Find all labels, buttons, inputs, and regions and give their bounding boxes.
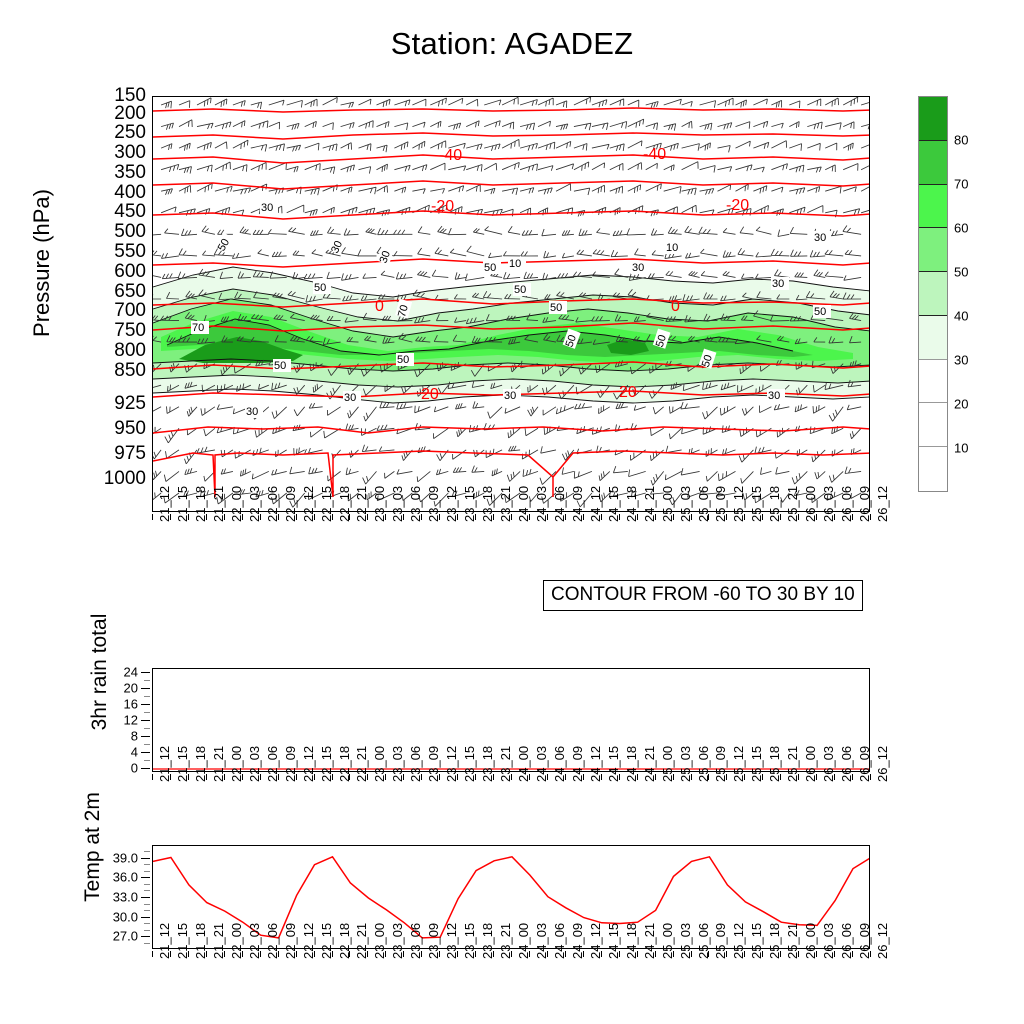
temp-y-tick-mark <box>141 936 150 937</box>
x-tick-mark <box>349 774 350 780</box>
wind-barb <box>825 165 835 172</box>
wind-barb <box>503 251 520 256</box>
wind-barb <box>646 102 659 109</box>
temp-y-tick-mark <box>141 917 150 918</box>
wind-barb <box>522 230 538 235</box>
x-tick-mark <box>457 774 458 780</box>
wind-barb <box>789 165 804 172</box>
wind-barb <box>703 426 717 434</box>
wind-barb <box>843 226 861 235</box>
wind-barb <box>341 207 358 215</box>
wind-barb <box>720 406 735 415</box>
x-tick-mark <box>529 951 530 957</box>
wind-barb <box>789 188 805 195</box>
x-tick-mark <box>367 514 368 520</box>
wind-barb <box>502 122 514 129</box>
wind-barb <box>197 165 212 172</box>
wind-barb <box>179 101 190 108</box>
wind-barb <box>417 271 430 278</box>
colorbar-tick-label: 40 <box>954 309 968 324</box>
wind-barb <box>305 99 317 107</box>
wind-barb <box>847 405 861 410</box>
wind-barb <box>502 139 519 148</box>
contour-canvas: -40 -40 -20 -20 0 0 20 20 30 10 10 50 30… <box>153 97 870 512</box>
wind-barb <box>629 470 646 477</box>
x-tick-mark <box>170 514 171 520</box>
colorbar[interactable]: 1020304050607080 <box>918 96 998 492</box>
svg-text:30: 30 <box>344 392 356 404</box>
wind-barb <box>635 249 646 256</box>
wind-barb <box>825 272 843 278</box>
x-tick-mark <box>367 774 368 780</box>
wind-barb <box>628 163 642 170</box>
x-tick-mark <box>152 774 153 780</box>
temp-y-minor-tick <box>144 864 150 865</box>
main-y-tick-label: 300 <box>86 142 146 164</box>
wind-barb <box>538 188 552 195</box>
wind-barb <box>682 162 699 170</box>
wind-barb <box>648 273 663 278</box>
wind-barb <box>845 467 861 474</box>
wind-barb <box>807 99 821 106</box>
wind-barb <box>611 250 628 257</box>
wind-barb <box>556 184 571 192</box>
wind-barb <box>593 250 610 256</box>
wind-barb <box>348 407 359 418</box>
wind-barb <box>574 123 591 130</box>
wind-barb <box>185 450 198 464</box>
wind-barb <box>161 101 171 108</box>
wind-barb <box>574 471 592 478</box>
wind-barb <box>418 227 430 235</box>
wind-barb <box>759 406 771 413</box>
wind-barb <box>233 101 245 107</box>
wind-barb <box>269 144 285 151</box>
wind-barb <box>272 469 287 475</box>
x-tick-mark <box>565 951 566 957</box>
wind-barb <box>309 467 323 474</box>
wind-barb <box>520 164 537 172</box>
wind-barb <box>240 469 250 477</box>
wind-barb <box>359 187 377 194</box>
wind-barb <box>592 185 605 193</box>
wind-barb <box>521 252 538 257</box>
wind-barb <box>362 445 376 452</box>
svg-text:10: 10 <box>509 258 521 270</box>
wind-barb <box>812 450 825 462</box>
x-tick-mark <box>439 774 440 780</box>
wind-barb <box>341 187 353 193</box>
wind-barb <box>430 163 445 170</box>
svg-text:20: 20 <box>421 386 439 403</box>
svg-text:70: 70 <box>192 322 204 334</box>
wind-barb <box>538 142 555 150</box>
wind-barb <box>448 228 466 235</box>
main-y-tick-label: 500 <box>86 221 146 243</box>
main-y-axis-ticks: 1502002503003504004505005506006507007508… <box>84 96 146 512</box>
wind-barb <box>450 249 466 256</box>
wind-barb <box>665 471 681 480</box>
x-tick-mark <box>798 951 799 957</box>
wind-barb <box>465 274 484 281</box>
wind-barb <box>164 471 179 481</box>
x-tick-mark <box>457 514 458 520</box>
rain-y-minor-tick <box>144 712 150 713</box>
x-tick-mark <box>547 951 548 957</box>
x-tick-mark <box>691 951 692 957</box>
x-tick-mark <box>655 951 656 957</box>
wind-barb <box>777 428 789 437</box>
wind-barb <box>363 471 377 484</box>
wind-barb <box>610 163 623 170</box>
wind-barb <box>430 121 441 128</box>
temp-y-tick-mark <box>141 877 150 878</box>
wind-barb <box>310 230 322 235</box>
colorbar-tick-label: 60 <box>954 221 968 236</box>
wind-barb <box>791 250 808 257</box>
wind-barb <box>541 446 556 453</box>
wind-barb <box>843 97 858 106</box>
wind-barb <box>293 251 305 256</box>
wind-barb <box>669 406 681 413</box>
svg-text:30: 30 <box>814 232 826 244</box>
wind-barb <box>613 466 627 473</box>
wind-barb <box>789 144 801 151</box>
x-tick-mark <box>385 774 386 780</box>
wind-barb <box>342 273 359 280</box>
wind-barb <box>436 469 448 475</box>
x-tick-mark <box>260 951 261 957</box>
wind-barb <box>412 99 426 106</box>
wind-barb <box>311 428 323 437</box>
wind-barb <box>556 164 574 170</box>
wind-barb <box>394 165 410 171</box>
wind-barb <box>718 98 734 106</box>
wind-barb <box>484 163 497 170</box>
wind-barb <box>574 144 587 151</box>
wind-barb <box>736 122 750 129</box>
wind-barb <box>628 206 643 215</box>
wind-barb <box>448 186 463 192</box>
x-tick-mark <box>475 951 476 957</box>
wind-barb <box>651 428 664 435</box>
temp-y-tick-mark <box>141 858 150 859</box>
colorbar-bands <box>918 96 948 492</box>
wind-barb <box>359 99 372 105</box>
wind-barb <box>774 404 789 410</box>
wind-barb <box>556 141 571 148</box>
svg-text:50: 50 <box>397 354 409 366</box>
x-tick-mark <box>314 774 315 780</box>
wind-barb <box>504 272 521 279</box>
wind-barb <box>341 102 354 108</box>
x-tick-mark <box>547 514 548 520</box>
x-tick-mark <box>206 774 207 780</box>
svg-text:30: 30 <box>261 202 273 214</box>
wind-barb <box>718 167 732 172</box>
wind-barb <box>466 165 482 172</box>
wind-barb <box>394 207 410 215</box>
wind-barb <box>485 226 503 234</box>
wind-barb <box>610 122 627 129</box>
wind-barb <box>251 163 266 172</box>
wind-barb <box>664 124 676 131</box>
wind-barb <box>287 205 304 213</box>
wind-barb <box>251 102 262 109</box>
svg-text:-20: -20 <box>431 198 454 215</box>
svg-text:30: 30 <box>768 390 780 402</box>
wind-barb <box>385 471 395 478</box>
x-tick-mark <box>870 514 871 520</box>
colorbar-tick-label: 20 <box>954 397 968 412</box>
wind-barb <box>669 428 681 439</box>
x-tick-mark <box>852 514 853 520</box>
wind-barb <box>153 229 161 236</box>
wind-barb <box>843 209 860 215</box>
wind-barb <box>520 123 535 130</box>
wind-barb <box>574 162 589 171</box>
wind-barb <box>807 187 820 193</box>
wind-barb <box>771 141 786 149</box>
wind-barb <box>592 123 608 130</box>
x-tick-label: 26_12 <box>875 486 890 522</box>
wind-barb <box>538 166 553 171</box>
wind-barb <box>153 407 161 414</box>
wind-barb <box>472 466 484 473</box>
x-tick-mark <box>565 774 566 780</box>
wind-barb <box>738 248 754 256</box>
wind-barb <box>492 469 502 476</box>
wind-barb <box>681 468 699 475</box>
wind-barb <box>610 186 623 193</box>
temp-y-minor-tick <box>144 910 150 911</box>
wind-barb <box>165 229 180 235</box>
page-title: Station: AGADEZ <box>0 26 1024 62</box>
x-tick-mark <box>780 774 781 780</box>
x-tick-label: 26_12 <box>875 923 890 959</box>
x-tick-mark <box>493 951 494 957</box>
x-tick-mark <box>762 951 763 957</box>
wind-barb <box>434 407 448 412</box>
wind-barb <box>341 143 352 150</box>
x-tick-mark <box>278 951 279 957</box>
wind-barb <box>668 227 681 234</box>
x-tick-mark <box>206 951 207 957</box>
wind-barb <box>397 402 413 409</box>
wind-barb <box>682 121 692 128</box>
wind-barb <box>341 123 355 129</box>
wind-barb <box>305 188 320 195</box>
wind-barb <box>181 229 197 236</box>
wind-barb <box>575 403 592 409</box>
colorbar-band <box>919 141 947 185</box>
wind-barb <box>723 271 736 277</box>
wind-barb <box>776 467 790 474</box>
wind-barb <box>232 253 250 259</box>
wind-barb <box>453 467 466 472</box>
wind-barb <box>610 99 624 106</box>
wind-barb <box>682 205 697 213</box>
wind-barb <box>233 165 247 172</box>
main-y-tick-label: 650 <box>86 281 146 303</box>
wind-barb <box>771 164 787 171</box>
wind-barb <box>287 123 299 129</box>
wind-barb <box>358 249 377 256</box>
main-y-tick-label: 400 <box>86 182 146 204</box>
wind-barb <box>269 122 280 129</box>
wind-barb <box>850 428 861 439</box>
x-tick-mark <box>726 514 727 520</box>
x-tick-mark <box>152 951 153 957</box>
wind-barb <box>628 100 639 107</box>
wind-barb <box>394 251 412 256</box>
wind-barb <box>473 228 484 234</box>
svg-text:-40: -40 <box>643 146 666 163</box>
wind-barb <box>252 471 268 479</box>
svg-text:30: 30 <box>246 406 258 418</box>
wind-barb <box>294 407 305 416</box>
x-tick-mark <box>403 774 404 780</box>
x-tick-mark <box>242 951 243 957</box>
wind-barb <box>825 186 841 193</box>
wind-barb <box>771 187 783 192</box>
svg-text:30: 30 <box>504 390 516 402</box>
wind-barb <box>825 123 841 130</box>
wind-barb <box>438 226 449 234</box>
wind-barb <box>377 122 390 128</box>
wind-barb <box>417 471 430 481</box>
colorbar-band <box>919 97 947 141</box>
wind-barb <box>703 407 718 419</box>
wind-barb <box>412 165 427 171</box>
wind-barb <box>484 100 501 105</box>
svg-text:30: 30 <box>632 262 644 274</box>
wind-barb <box>346 468 358 475</box>
wind-barb <box>523 469 538 477</box>
wind-barb <box>467 246 484 256</box>
wind-barb <box>377 164 388 172</box>
rain-y-tick-mark <box>141 720 150 721</box>
wind-barb <box>771 100 781 107</box>
wind-barb <box>251 145 267 152</box>
wind-barb <box>430 98 446 106</box>
wind-barb <box>161 253 179 258</box>
wind-barb <box>381 271 394 278</box>
wind-barb <box>179 143 190 151</box>
rain-y-tick-mark <box>141 704 150 705</box>
wind-barb <box>287 100 303 107</box>
wind-barb <box>789 122 799 129</box>
svg-text:50: 50 <box>314 282 326 294</box>
x-tick-mark <box>403 514 404 520</box>
x-tick-mark <box>744 951 745 957</box>
svg-text:50: 50 <box>814 306 826 318</box>
wind-barb <box>287 145 301 151</box>
x-tick-label: 26_12 <box>875 746 890 782</box>
wind-barb <box>574 188 590 195</box>
wind-barb <box>740 428 754 437</box>
wind-barb <box>599 405 610 413</box>
rain-y-tick-mark <box>141 688 150 689</box>
wind-barb <box>240 227 251 235</box>
wind-barb <box>538 121 551 127</box>
temp-y-minor-tick <box>144 890 150 891</box>
x-tick-mark <box>708 514 709 520</box>
wind-barb <box>364 407 377 421</box>
wind-barb <box>774 270 789 278</box>
wind-barb <box>666 446 682 453</box>
wind-barb <box>634 405 646 410</box>
wind-barb <box>394 142 408 150</box>
main-y-tick-label: 975 <box>86 443 146 465</box>
wind-barb <box>215 122 231 129</box>
wind-barb <box>359 121 374 129</box>
temp-y-tick-label: 27.0 <box>90 929 138 944</box>
colorbar-tick-label: 10 <box>954 441 968 456</box>
wind-barb <box>394 123 407 130</box>
wind-barb <box>432 270 448 278</box>
wind-barb <box>664 165 675 171</box>
wind-barb <box>153 471 161 480</box>
rain-y-minor-tick <box>144 696 150 697</box>
wind-barb <box>651 229 663 236</box>
x-tick-mark <box>511 774 512 780</box>
rh-shading-layer <box>153 267 870 403</box>
wind-barb <box>739 450 753 462</box>
wind-barb <box>233 121 245 128</box>
wind-barb <box>161 189 172 195</box>
wind-barb <box>556 406 574 414</box>
wind-barb <box>272 407 287 419</box>
wind-barb <box>502 97 518 105</box>
wind-barb <box>327 272 341 279</box>
wind-barb <box>215 142 227 149</box>
wind-barb <box>543 407 556 415</box>
x-tick-mark <box>726 951 727 957</box>
sounding-time-height-plot[interactable]: -40 -40 -20 -20 0 0 20 20 30 10 10 50 30… <box>152 96 870 512</box>
main-y-tick-label: 925 <box>86 393 146 415</box>
x-tick-mark <box>421 774 422 780</box>
wind-barb <box>489 253 503 258</box>
wind-barb <box>653 407 664 414</box>
wind-barb <box>599 471 610 480</box>
x-tick-mark <box>296 774 297 780</box>
x-tick-mark <box>188 951 189 957</box>
wind-barb <box>807 143 820 150</box>
x-tick-mark <box>278 514 279 520</box>
temp-y-tick-mark <box>141 897 150 898</box>
wind-barb <box>187 407 197 417</box>
x-tick-mark <box>637 951 638 957</box>
wind-barb <box>273 426 287 434</box>
wind-barb <box>304 274 322 279</box>
wind-barb <box>700 101 716 108</box>
wind-barb <box>379 447 394 452</box>
svg-text:20: 20 <box>619 384 637 401</box>
wind-barb <box>664 99 682 105</box>
wind-barb <box>562 467 574 474</box>
wind-barb <box>484 188 495 194</box>
x-tick-mark <box>619 774 620 780</box>
wind-barb <box>215 186 232 192</box>
wind-barb <box>577 250 592 256</box>
x-tick-mark <box>493 514 494 520</box>
wind-barb <box>377 99 391 107</box>
wind-barb <box>815 471 825 479</box>
wind-barb <box>202 251 215 256</box>
temp-y-tick-label: 30.0 <box>90 909 138 924</box>
wind-barb <box>753 121 767 127</box>
